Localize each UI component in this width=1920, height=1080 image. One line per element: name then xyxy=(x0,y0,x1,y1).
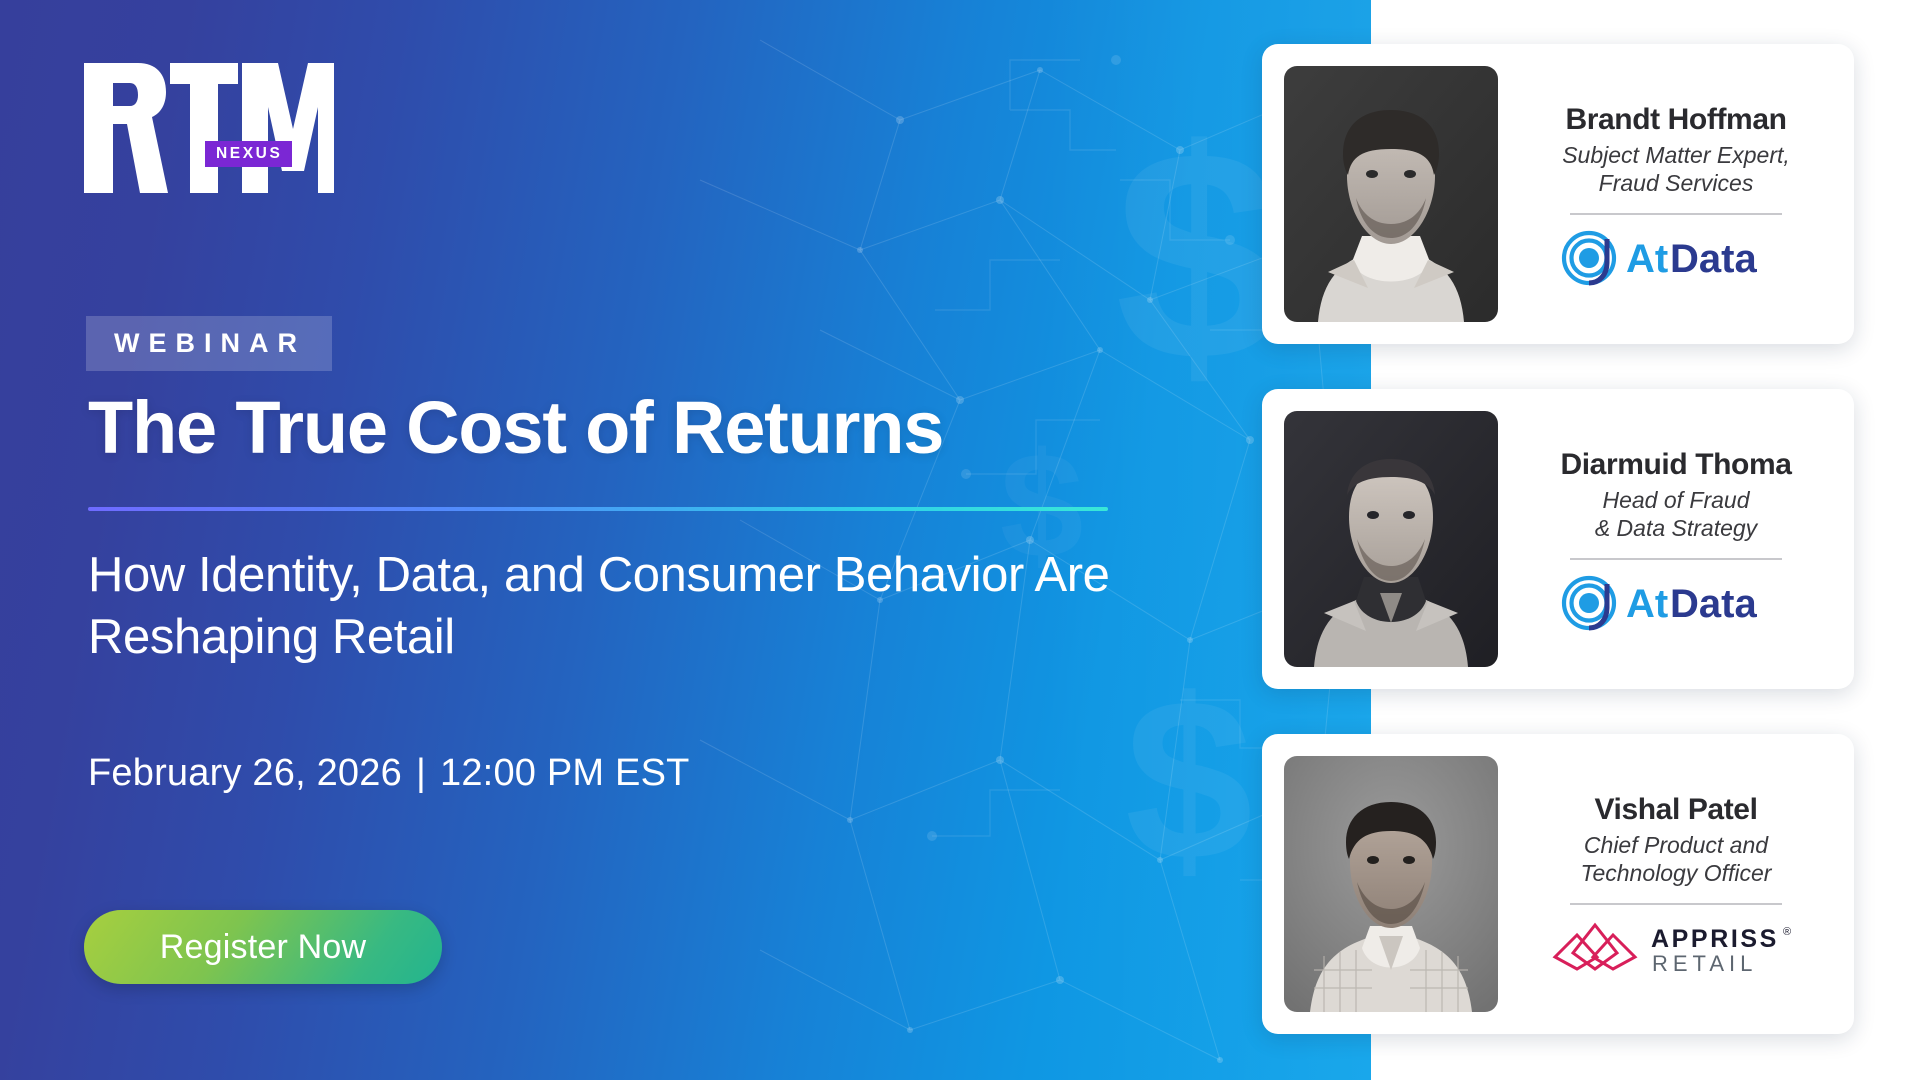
speaker-title-line1: Chief Product and xyxy=(1584,832,1768,858)
speaker-name: Brandt Hoffman xyxy=(1565,103,1786,137)
page-subtitle: How Identity, Data, and Consumer Behavio… xyxy=(88,545,1148,668)
speaker-title-line2: Technology Officer xyxy=(1581,860,1772,886)
card-divider xyxy=(1570,903,1782,905)
event-date: February 26, 2026 xyxy=(88,752,402,794)
speaker-name: Vishal Patel xyxy=(1594,793,1757,827)
hero-panel: $ $ $ NEXUS WEBINAR The True Cost of Ret… xyxy=(0,0,1371,1080)
rtm-nexus-logo[interactable] xyxy=(84,63,334,193)
speaker-title: Subject Matter Expert, Fraud Services xyxy=(1562,141,1790,197)
speaker-headshot-icon xyxy=(1284,756,1498,1012)
title-divider xyxy=(88,507,1108,511)
avatar xyxy=(1284,66,1498,322)
svg-text:Data: Data xyxy=(1670,237,1757,281)
svg-text:Data: Data xyxy=(1670,582,1757,626)
avatar xyxy=(1284,411,1498,667)
svg-text:®: ® xyxy=(1783,926,1791,938)
speaker-card[interactable]: Brandt Hoffman Subject Matter Expert, Fr… xyxy=(1262,44,1854,344)
speaker-title-line1: Subject Matter Expert, xyxy=(1562,142,1790,168)
company-logo-atdata: At Data xyxy=(1560,572,1792,634)
speaker-card[interactable]: Diarmuid Thoma Head of Fraud & Data Stra… xyxy=(1262,389,1854,689)
speaker-title: Chief Product and Technology Officer xyxy=(1581,831,1772,887)
page-title: The True Cost of Returns xyxy=(88,390,1148,465)
svg-text:At: At xyxy=(1626,237,1668,281)
svg-text:RETAIL: RETAIL xyxy=(1652,951,1757,976)
speaker-headshot-icon xyxy=(1284,66,1498,322)
webinar-eyebrow-badge: WEBINAR xyxy=(86,316,332,371)
register-now-button[interactable]: Register Now xyxy=(84,910,442,984)
nexus-badge: NEXUS xyxy=(205,141,292,167)
speaker-info: Diarmuid Thoma Head of Fraud & Data Stra… xyxy=(1522,444,1830,635)
svg-text:At: At xyxy=(1626,582,1668,626)
atdata-logo-icon: At Data xyxy=(1560,574,1792,632)
card-divider xyxy=(1570,558,1782,560)
speaker-card[interactable]: Vishal Patel Chief Product and Technolog… xyxy=(1262,734,1854,1034)
company-logo-atdata: At Data xyxy=(1560,227,1792,289)
atdata-logo-icon: At Data xyxy=(1560,229,1792,287)
speaker-title-line2: Fraud Services xyxy=(1599,170,1754,196)
event-datetime: February 26, 2026|12:00 PM EST xyxy=(88,752,690,795)
speaker-title-line2: & Data Strategy xyxy=(1595,515,1757,541)
speaker-title-line1: Head of Fraud xyxy=(1602,487,1749,513)
company-logo-appriss-retail: APPRISS ® RETAIL xyxy=(1551,917,1801,979)
speaker-rail: Brandt Hoffman Subject Matter Expert, Fr… xyxy=(1262,0,1862,1080)
speaker-info: Vishal Patel Chief Product and Technolog… xyxy=(1522,789,1830,980)
datetime-separator: | xyxy=(402,752,440,794)
speaker-info: Brandt Hoffman Subject Matter Expert, Fr… xyxy=(1522,99,1830,290)
avatar xyxy=(1284,756,1498,1012)
appriss-retail-logo-icon: APPRISS ® RETAIL xyxy=(1551,919,1801,977)
card-divider xyxy=(1570,213,1782,215)
speaker-name: Diarmuid Thoma xyxy=(1560,448,1791,482)
svg-text:APPRISS: APPRISS xyxy=(1651,925,1779,953)
speaker-title: Head of Fraud & Data Strategy xyxy=(1595,486,1757,542)
event-time: 12:00 PM EST xyxy=(440,752,690,794)
rtm-wordmark-icon xyxy=(84,63,334,193)
speaker-headshot-icon xyxy=(1284,411,1498,667)
